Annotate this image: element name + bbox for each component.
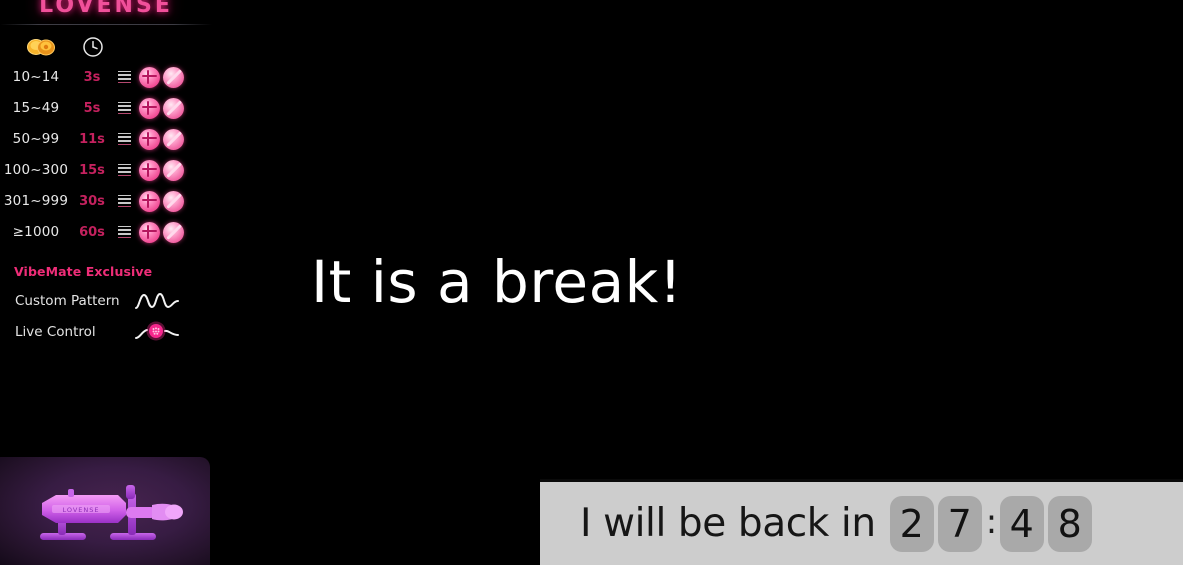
tip-range: 15~49 <box>0 100 72 116</box>
feature-row-custom-pattern[interactable]: Custom Pattern <box>0 288 200 314</box>
tip-duration: 60s <box>72 225 112 240</box>
tip-range: 301~999 <box>0 193 72 209</box>
no-entry-circle-icon[interactable] <box>163 129 184 150</box>
waveform-icon[interactable] <box>135 289 179 313</box>
machine-circle-icon[interactable] <box>139 129 160 150</box>
feature-label: Live Control <box>15 324 135 340</box>
feature-label: Custom Pattern <box>15 293 135 309</box>
no-entry-circle-icon[interactable] <box>163 191 184 212</box>
machine-circle-icon[interactable] <box>139 67 160 88</box>
svg-text:LOVENSE: LOVENSE <box>62 506 99 514</box>
sidebar-panel: LOVENSE 10~14 3s 15~49 <box>0 0 212 565</box>
list-menu-icon[interactable] <box>112 71 136 83</box>
machine-circle-icon[interactable] <box>139 98 160 119</box>
tip-range: 100~300 <box>0 162 72 178</box>
list-menu-icon[interactable] <box>112 226 136 238</box>
list-menu-icon[interactable] <box>112 195 136 207</box>
list-menu-icon[interactable] <box>112 133 136 145</box>
tip-range: 50~99 <box>0 131 72 147</box>
tip-row[interactable]: 301~999 30s <box>0 188 200 214</box>
machine-circle-icon[interactable] <box>139 222 160 243</box>
no-entry-circle-icon[interactable] <box>163 67 184 88</box>
tip-duration: 30s <box>72 194 112 209</box>
feature-row-live-control[interactable]: Live Control <box>0 319 200 345</box>
countdown-digit-4: 8 <box>1048 496 1092 552</box>
tip-row[interactable]: ≥1000 60s <box>0 219 200 245</box>
sidebar-divider <box>0 24 212 25</box>
clock-icon <box>82 36 104 58</box>
tip-range: ≥1000 <box>0 224 72 240</box>
tip-duration: 3s <box>72 70 112 85</box>
machine-circle-icon[interactable] <box>139 191 160 212</box>
vibemate-exclusive-title: VibeMate Exclusive <box>14 264 152 279</box>
tip-duration: 5s <box>72 101 112 116</box>
no-entry-circle-icon[interactable] <box>163 98 184 119</box>
machine-circle-icon[interactable] <box>139 160 160 181</box>
tip-row[interactable]: 10~14 3s <box>0 64 200 90</box>
tip-range: 10~14 <box>0 69 72 85</box>
countdown-digit-3: 4 <box>1000 496 1044 552</box>
waveform-live-icon[interactable] <box>135 320 179 344</box>
lovense-logo: LOVENSE <box>0 0 212 18</box>
tip-duration: 11s <box>72 132 112 147</box>
lovense-sex-machine-image: LOVENSE <box>22 475 192 553</box>
tip-row[interactable]: 50~99 11s <box>0 126 200 152</box>
product-promo-card[interactable]: LOVENSE <box>0 457 210 565</box>
no-entry-circle-icon[interactable] <box>163 222 184 243</box>
tip-duration: 15s <box>72 163 112 178</box>
tip-row[interactable]: 100~300 15s <box>0 157 200 183</box>
countdown-separator: : <box>986 505 996 543</box>
no-entry-circle-icon[interactable] <box>163 160 184 181</box>
break-headline: It is a break! <box>311 248 682 316</box>
countdown-digit-2: 7 <box>938 496 982 552</box>
tip-row[interactable]: 15~49 5s <box>0 95 200 121</box>
tip-table-header <box>0 36 200 60</box>
list-menu-icon[interactable] <box>112 102 136 114</box>
countdown-label: I will be back in <box>580 501 876 546</box>
countdown-digit-1: 2 <box>890 496 934 552</box>
countdown-digits: 2 7 : 4 8 <box>890 496 1092 552</box>
list-menu-icon[interactable] <box>112 164 136 176</box>
countdown-bar: I will be back in 2 7 : 4 8 <box>540 479 1183 565</box>
coins-icon <box>26 38 56 56</box>
